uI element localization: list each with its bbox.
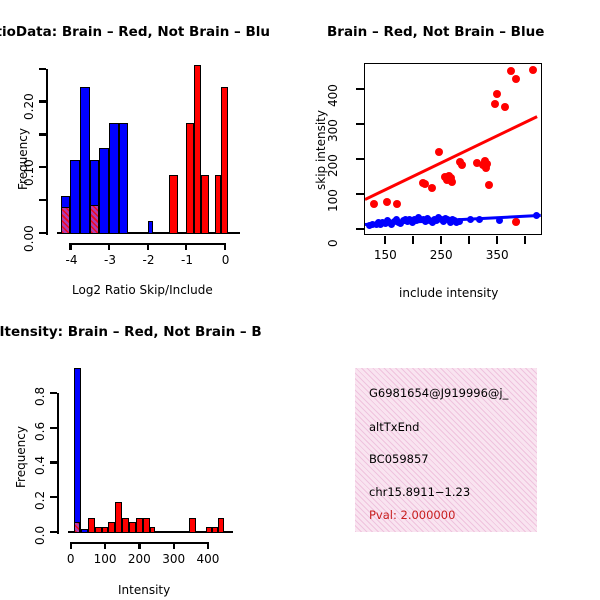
scatter-point-red-6 [435,148,443,156]
intensity-xtick-4 [207,542,209,549]
scatter-point-red-19 [485,181,493,189]
ratio-ytick-3 [39,133,46,135]
scatter-xtick-5 [524,236,526,244]
scatter-point-red-11 [448,178,456,186]
scatter-yticklabel-4: 400 [326,84,340,107]
intensity-bar-brain-1 [88,518,95,533]
scatter-point-red-25 [529,66,537,74]
panel-ratio-histogram: RatioData: Brain – Red, Not Brain – Blu … [0,0,300,300]
ratio-xticklabel-3: -1 [178,253,196,267]
ratio-bar-not-brain-2 [80,87,90,234]
ratio-xtick-4 [224,243,226,250]
scatter-point-red-18 [482,164,490,172]
scatter-point-blue-42 [496,217,503,224]
ratio-xticklabel-2: -2 [140,253,158,267]
intensity-bar-brain-10 [150,527,155,533]
ratio-xtick-2 [147,243,149,250]
intensity-yticklabel-4: 0.8 [33,387,47,406]
ratio-bar-brain-1 [186,123,194,234]
intensity-ytick-4 [50,392,57,394]
intensity-bar-brain-8 [136,518,143,533]
scatter-point-red-20 [493,90,501,98]
ratio-bar-overlap-0 [61,207,71,234]
scatter-yticklabel-0: 0 [326,239,340,247]
intensity-yticklabel-0: 0.0 [33,526,47,545]
scatter-point-red-24 [512,75,520,83]
ratio-histogram-plot-area: -4-3-2-100.000.100.20 [0,0,300,300]
intensity-xticklabel-1: 100 [89,552,121,566]
scatter-point-blue-40 [467,216,474,223]
ratio-bar-not-brain-4 [99,148,109,234]
intensity-ytick-1 [50,496,57,498]
intensity-ytick-0 [50,531,57,533]
intensity-xticklabel-2: 200 [123,552,155,566]
info-box-line-4: Pval: 2.000000 [369,508,455,522]
scatter-point-red-23 [507,67,515,75]
scatter-ytick-1 [356,193,364,195]
scatter-point-red-1 [383,198,391,206]
ratio-yaxis-line [46,69,48,235]
intensity-bar-brain-5 [115,502,122,533]
ratio-bar-not-brain-7 [148,221,154,234]
intensity-histogram-plot-area: 01002003004000.00.20.40.60.8 [0,300,300,600]
intensity-bar-brain-4 [108,522,115,533]
intensity-xticklabel-3: 300 [158,552,190,566]
info-box-line-3: chr15.8911−1.23 [369,485,470,499]
info-box-line-0: G6981654@J919996@j_ [369,386,508,400]
intensity-xticklabel-0: 0 [55,552,87,566]
scatter-xticklabel-0: 150 [370,248,400,262]
intensity-bar-brain-11 [189,518,196,533]
intensity-xtick-1 [104,542,106,549]
scatter-plot-box [364,63,542,235]
scatter-xtick-4 [496,236,498,244]
intensity-xtick-0 [70,542,72,549]
scatter-ytick-2 [356,158,364,160]
scatter-point-red-26 [512,218,520,226]
ratio-bar-not-brain-1 [70,160,80,234]
intensity-bar-brain-3 [102,527,109,533]
intensity-bar-not-brain-0 [74,368,81,533]
intensity-ytick-2 [50,461,57,463]
scatter-xtick-1 [412,236,414,244]
ratio-xticklabel-0: -4 [62,253,80,267]
intensity-xtick-2 [138,542,140,549]
info-box: G6981654@J919996@j_altTxEndBC059857chr15… [355,368,537,532]
scatter-xtick-2 [440,236,442,244]
ratio-ytick-2 [39,166,46,168]
ratio-bar-brain-3 [201,175,209,234]
scatter-point-blue-39 [456,218,463,225]
scatter-point-red-21 [491,100,499,108]
ratio-xtick-3 [185,243,187,250]
scatter-ytick-0 [356,228,364,230]
scatter-point-red-0 [370,200,378,208]
ratio-ytick-5 [39,68,46,70]
intensity-bar-brain-14 [218,518,225,533]
scatter-point-blue-44 [533,212,540,219]
intensity-bar-brain-9 [143,518,150,533]
info-box-line-1: altTxEnd [369,420,419,434]
intensity-bar-overlap-0 [74,522,79,533]
ratio-ytick-0 [39,232,46,234]
intensity-yaxis-line [57,393,59,534]
scatter-plot-area: 0100200300400150250350 [300,0,600,300]
ratio-xtick-1 [108,243,110,250]
scatter-fitline-0 [364,115,538,201]
ratio-ytick-1 [39,199,46,201]
ratio-bar-not-brain-6 [119,123,129,234]
scatter-xticklabel-2: 250 [426,248,456,262]
scatter-ytick-3 [356,123,364,125]
ratio-ytick-4 [39,100,46,102]
ratio-xticklabel-4: 0 [217,253,235,267]
ratio-bar-overlap-1 [90,205,100,234]
intensity-bar-brain-6 [122,518,129,533]
ratio-bar-brain-5 [221,87,229,234]
info-box-line-2: BC059857 [369,452,429,466]
scatter-yticklabel-1: 100 [326,189,340,212]
intensity-bar-brain-2 [95,527,102,533]
intensity-xtick-3 [173,542,175,549]
scatter-point-red-2 [393,200,401,208]
ratio-bar-brain-2 [194,65,202,234]
ratio-yticklabel-0: 0.00 [22,225,36,252]
scatter-xtick-0 [384,236,386,244]
intensity-bar-brain-7 [129,522,136,533]
ratio-bar-not-brain-5 [109,123,119,234]
scatter-point-blue-41 [476,216,483,223]
scatter-yticklabel-2: 200 [326,154,340,177]
ratio-bar-brain-0 [169,175,179,234]
intensity-bar-not-brain-1 [81,529,88,533]
ratio-yticklabel-2: 0.10 [22,160,36,187]
intensity-xticklabel-4: 400 [192,552,224,566]
panel-scatter: Brain – Red, Not Brain – Blue skip inten… [300,0,600,300]
scatter-ytick-4 [356,88,364,90]
scatter-point-red-13 [458,161,466,169]
intensity-ytick-3 [50,427,57,429]
intensity-yticklabel-3: 0.6 [33,422,47,441]
intensity-yticklabel-2: 0.4 [33,456,47,475]
scatter-yticklabel-3: 300 [326,119,340,142]
scatter-xticklabel-4: 350 [482,248,512,262]
ratio-xticklabel-1: -3 [101,253,119,267]
panel-intensity-histogram: ne Itensity: Brain – Red, Not Brain – B … [0,300,300,600]
intensity-yticklabel-1: 0.2 [33,491,47,510]
scatter-xtick-3 [468,236,470,244]
scatter-point-red-5 [428,184,436,192]
scatter-point-red-22 [501,103,509,111]
ratio-xtick-0 [69,243,71,250]
ratio-yticklabel-4: 0.20 [22,94,36,121]
